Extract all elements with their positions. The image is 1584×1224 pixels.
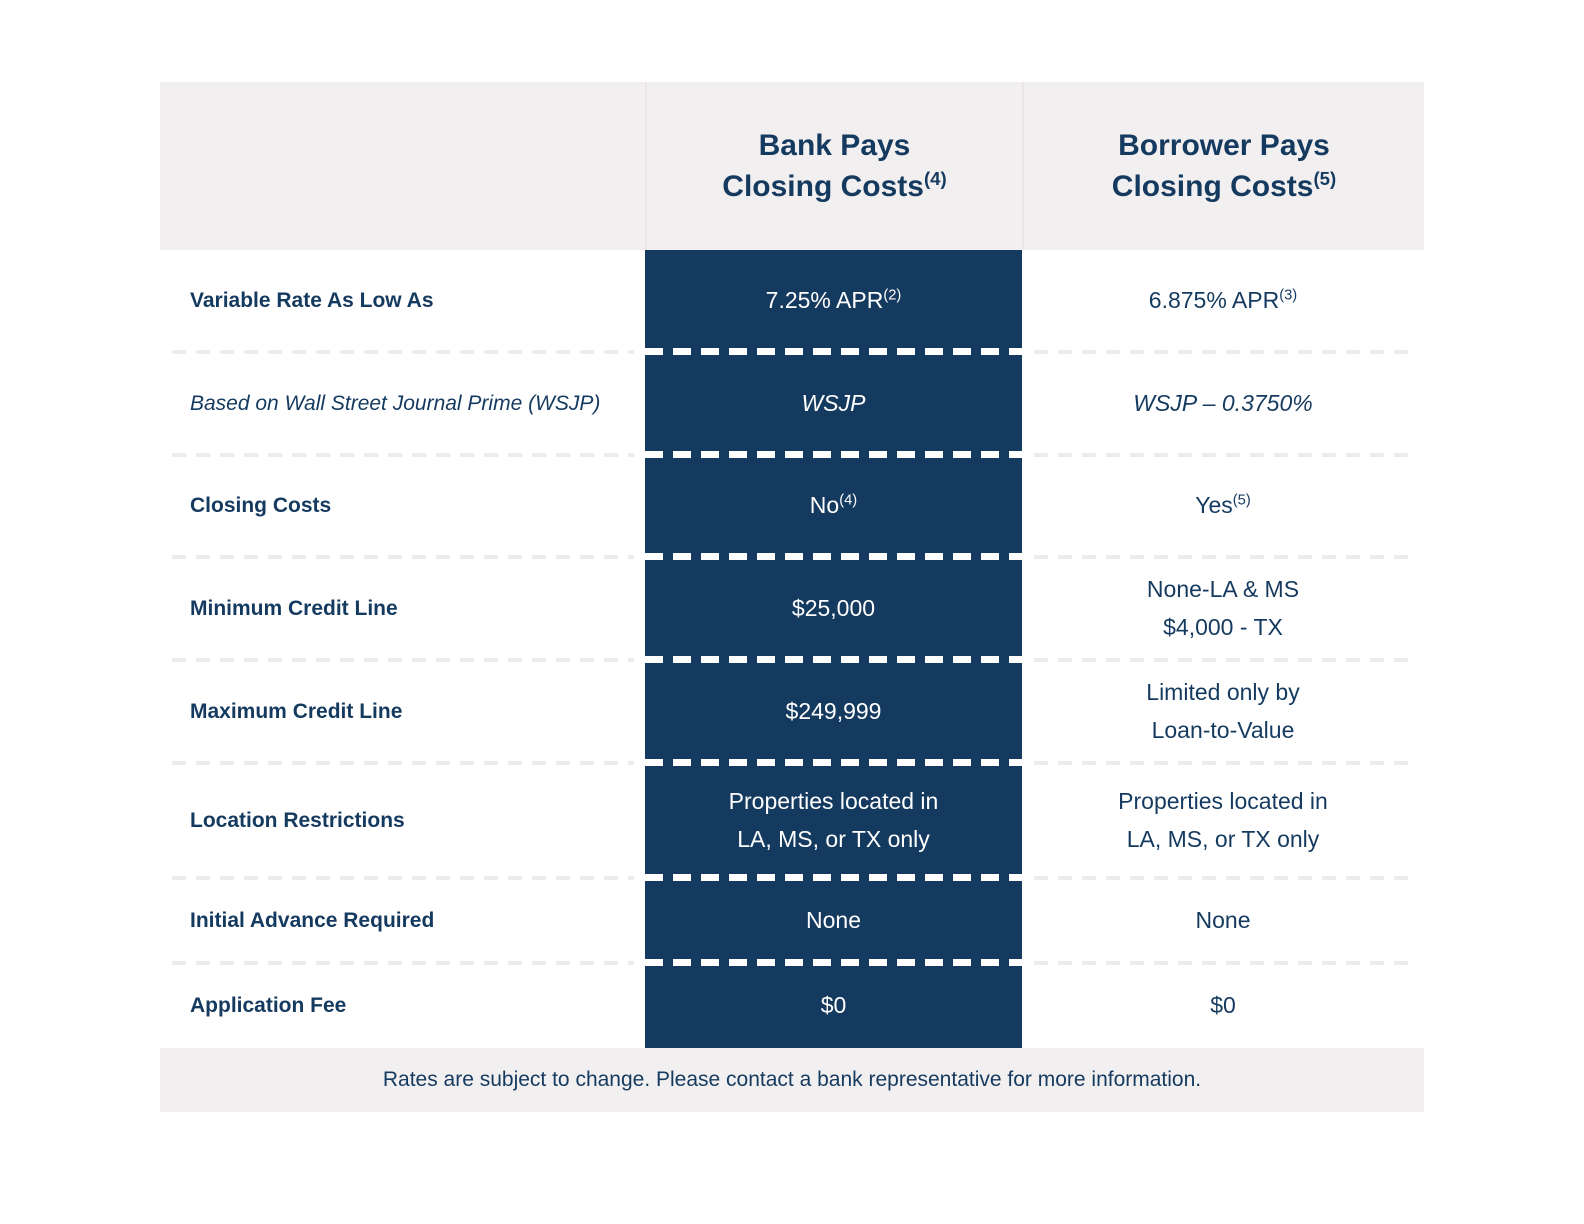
table-row: Initial Advance RequiredNoneNone — [160, 878, 1424, 963]
cell-bank-pays: $25,000 — [645, 557, 1022, 660]
table-row: Minimum Credit Line$25,000None-LA & MS$4… — [160, 557, 1424, 660]
row-label: Variable Rate As Low As — [160, 250, 645, 352]
cell-borrower-pays: Yes(5) — [1022, 455, 1424, 557]
cell-bank-pays: WSJP — [645, 352, 1022, 455]
cell-bank-pays: None — [645, 878, 1022, 963]
row-divider-mid — [645, 874, 1022, 881]
table-row: Closing CostsNo(4)Yes(5) — [160, 455, 1424, 557]
row-label: Minimum Credit Line — [160, 557, 645, 660]
borrower-value-line: WSJP – 0.3750% — [1133, 385, 1312, 422]
cell-bank-pays: $249,999 — [645, 660, 1022, 763]
row-divider-left — [172, 350, 634, 354]
cell-bank-pays: 7.25% APR(2) — [645, 250, 1022, 352]
heloc-comparison-card: Bank Pays Closing Costs(4) Borrower Pays… — [160, 82, 1424, 1112]
row-label: Maximum Credit Line — [160, 660, 645, 763]
header-borrower-line1: Borrower Pays — [1118, 129, 1330, 162]
header-borrower-footnote-marker: (5) — [1313, 168, 1336, 189]
header-borrower-line2: Closing Costs — [1112, 170, 1314, 203]
row-divider-left — [172, 761, 634, 765]
borrower-value-line: $0 — [1210, 987, 1236, 1024]
row-divider-mid — [645, 656, 1022, 663]
table-row: Location RestrictionsProperties located … — [160, 763, 1424, 878]
bank-value-line: None — [806, 902, 861, 939]
row-divider-left — [172, 961, 634, 965]
row-divider-right — [1034, 350, 1412, 354]
bank-value-footnote-marker: (4) — [839, 493, 857, 509]
borrower-value-line: 6.875% APR(3) — [1149, 282, 1297, 319]
header-bank-line2: Closing Costs — [722, 170, 924, 203]
borrower-value-line: Loan-to-Value — [1146, 712, 1299, 749]
bank-value-line: 7.25% APR(2) — [766, 282, 902, 319]
row-label: Application Fee — [160, 963, 645, 1048]
borrower-value-line: Yes(5) — [1195, 487, 1251, 524]
row-divider-right — [1034, 876, 1412, 880]
bank-value-line: No(4) — [810, 487, 857, 524]
cell-borrower-pays: Limited only byLoan-to-Value — [1022, 660, 1424, 763]
row-divider-left — [172, 658, 634, 662]
cell-borrower-pays: None-LA & MS$4,000 - TX — [1022, 557, 1424, 660]
row-divider-mid — [645, 451, 1022, 458]
cell-borrower-pays: WSJP – 0.3750% — [1022, 352, 1424, 455]
bank-value-footnote-marker: (2) — [883, 288, 901, 304]
row-divider-right — [1034, 555, 1412, 559]
table-row: Maximum Credit Line$249,999Limited only … — [160, 660, 1424, 763]
row-divider-right — [1034, 453, 1412, 457]
row-divider-left — [172, 555, 634, 559]
borrower-value-line: None-LA & MS — [1147, 571, 1299, 608]
cell-borrower-pays: Properties located inLA, MS, or TX only — [1022, 763, 1424, 878]
comparison-table-body: Variable Rate As Low As7.25% APR(2)6.875… — [160, 250, 1424, 1048]
table-row: Based on Wall Street Journal Prime (WSJP… — [160, 352, 1424, 455]
cell-borrower-pays: None — [1022, 878, 1424, 963]
header-bank-pays-closing-costs: Bank Pays Closing Costs(4) — [645, 82, 1022, 250]
row-divider-right — [1034, 761, 1412, 765]
row-divider-mid — [645, 959, 1022, 966]
cell-bank-pays: No(4) — [645, 455, 1022, 557]
bank-value-line: $25,000 — [792, 590, 875, 627]
cell-borrower-pays: $0 — [1022, 963, 1424, 1048]
header-bank-footnote-marker: (4) — [924, 168, 947, 189]
row-label: Location Restrictions — [160, 763, 645, 878]
header-bank-line1: Bank Pays — [759, 129, 911, 162]
row-divider-mid — [645, 759, 1022, 766]
bank-value-line: Properties located in — [729, 783, 939, 820]
borrower-value-line: LA, MS, or TX only — [1118, 821, 1328, 858]
rates-disclaimer: Rates are subject to change. Please cont… — [160, 1048, 1424, 1112]
row-divider-mid — [645, 348, 1022, 355]
cell-borrower-pays: 6.875% APR(3) — [1022, 250, 1424, 352]
row-divider-left — [172, 453, 634, 457]
table-row: Application Fee$0$0 — [160, 963, 1424, 1048]
row-label: Closing Costs — [160, 455, 645, 557]
row-divider-right — [1034, 961, 1412, 965]
row-divider-left — [172, 876, 634, 880]
borrower-value-footnote-marker: (5) — [1233, 493, 1251, 509]
bank-value-line: $249,999 — [786, 693, 882, 730]
bank-value-line: $0 — [821, 987, 847, 1024]
borrower-value-line: $4,000 - TX — [1147, 609, 1299, 646]
borrower-value-line: Properties located in — [1118, 783, 1328, 820]
bank-value-line: LA, MS, or TX only — [729, 821, 939, 858]
bank-value-line: WSJP — [802, 385, 866, 422]
table-header-row: Bank Pays Closing Costs(4) Borrower Pays… — [160, 82, 1424, 250]
borrower-value-line: Limited only by — [1146, 674, 1299, 711]
header-borrower-pays-closing-costs: Borrower Pays Closing Costs(5) — [1022, 82, 1424, 250]
cell-bank-pays: $0 — [645, 963, 1022, 1048]
row-label: Initial Advance Required — [160, 878, 645, 963]
row-divider-mid — [645, 553, 1022, 560]
header-blank-cell — [160, 82, 645, 250]
borrower-value-line: None — [1196, 902, 1251, 939]
cell-bank-pays: Properties located inLA, MS, or TX only — [645, 763, 1022, 878]
row-divider-right — [1034, 658, 1412, 662]
row-label: Based on Wall Street Journal Prime (WSJP… — [160, 352, 645, 455]
table-row: Variable Rate As Low As7.25% APR(2)6.875… — [160, 250, 1424, 352]
borrower-value-footnote-marker: (3) — [1279, 288, 1297, 304]
